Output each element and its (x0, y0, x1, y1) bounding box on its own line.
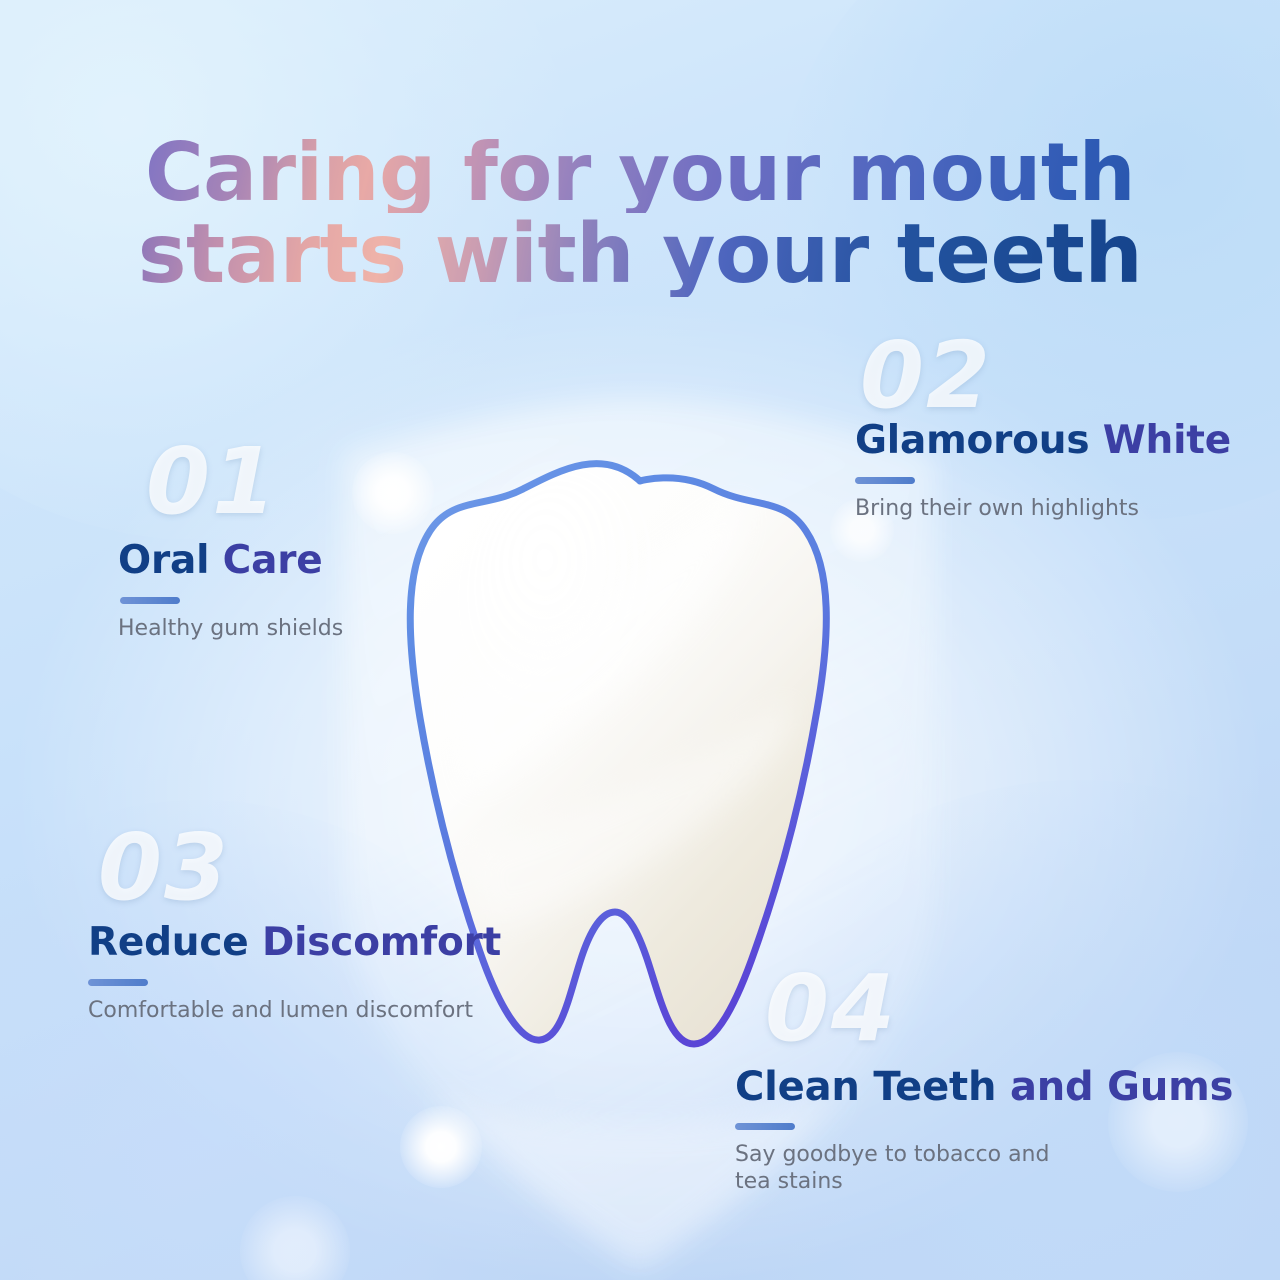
feature-accent-bar (120, 597, 180, 604)
poster-canvas: Caring for your mouth starts with your t… (0, 0, 1280, 1280)
feature-subtitle: Bring their own highlights (855, 496, 1231, 523)
feature-title-part-1: Reduce (88, 920, 249, 965)
feature-title-part-1: Oral (118, 538, 209, 583)
tooth-diagonal-highlight (455, 500, 744, 790)
feature-accent-bar (855, 477, 915, 484)
feature-block-clean-teeth-and-gums: 04 Clean Teeth and Gums Say goodbye to t… (735, 1065, 1233, 1196)
feature-title-part-1: Clean Teeth (735, 1064, 996, 1110)
feature-block-reduce-discomfort: 03 Reduce Discomfort Comfortable and lum… (88, 922, 501, 1025)
tooth-highlight (465, 470, 675, 770)
feature-title-part-2: Care (223, 538, 323, 583)
feature-number-watermark: 02 (860, 322, 992, 429)
feature-number-watermark: 01 (146, 428, 278, 535)
feature-block-oral-care: 01 Oral Care Healthy gum shields (118, 540, 343, 643)
tooth-lower-highlight (470, 700, 791, 924)
sparkle-orb (400, 1106, 482, 1188)
background-glow-bottom-left (0, 800, 560, 1280)
page-title: Caring for your mouth starts with your t… (0, 132, 1280, 297)
feature-title: Clean Teeth and Gums (735, 1065, 1233, 1109)
feature-subtitle: Healthy gum shields (118, 616, 343, 643)
feature-subtitle: Comfortable and lumen discomfort (88, 998, 501, 1025)
sparkle-orb (240, 1196, 350, 1280)
headline-line-2: starts with your teeth (0, 213, 1280, 297)
feature-title-part-2: Discomfort (262, 920, 501, 965)
feature-title: Oral Care (118, 540, 343, 583)
feature-accent-bar (735, 1123, 795, 1130)
headline-line-1: Caring for your mouth (0, 132, 1280, 214)
feature-number-watermark: 04 (765, 955, 897, 1062)
feature-subtitle: Say goodbye to tobacco and tea stains (735, 1142, 1233, 1196)
feature-title-part-2: White (1103, 418, 1231, 463)
feature-title: Reduce Discomfort (88, 922, 501, 965)
feature-title-part-2: and Gums (1010, 1064, 1233, 1110)
sparkle-orb (352, 452, 434, 534)
feature-number-watermark: 03 (98, 814, 230, 921)
feature-accent-bar (88, 979, 148, 986)
feature-block-glamorous-white: 02 Glamorous White Bring their own highl… (855, 420, 1231, 523)
